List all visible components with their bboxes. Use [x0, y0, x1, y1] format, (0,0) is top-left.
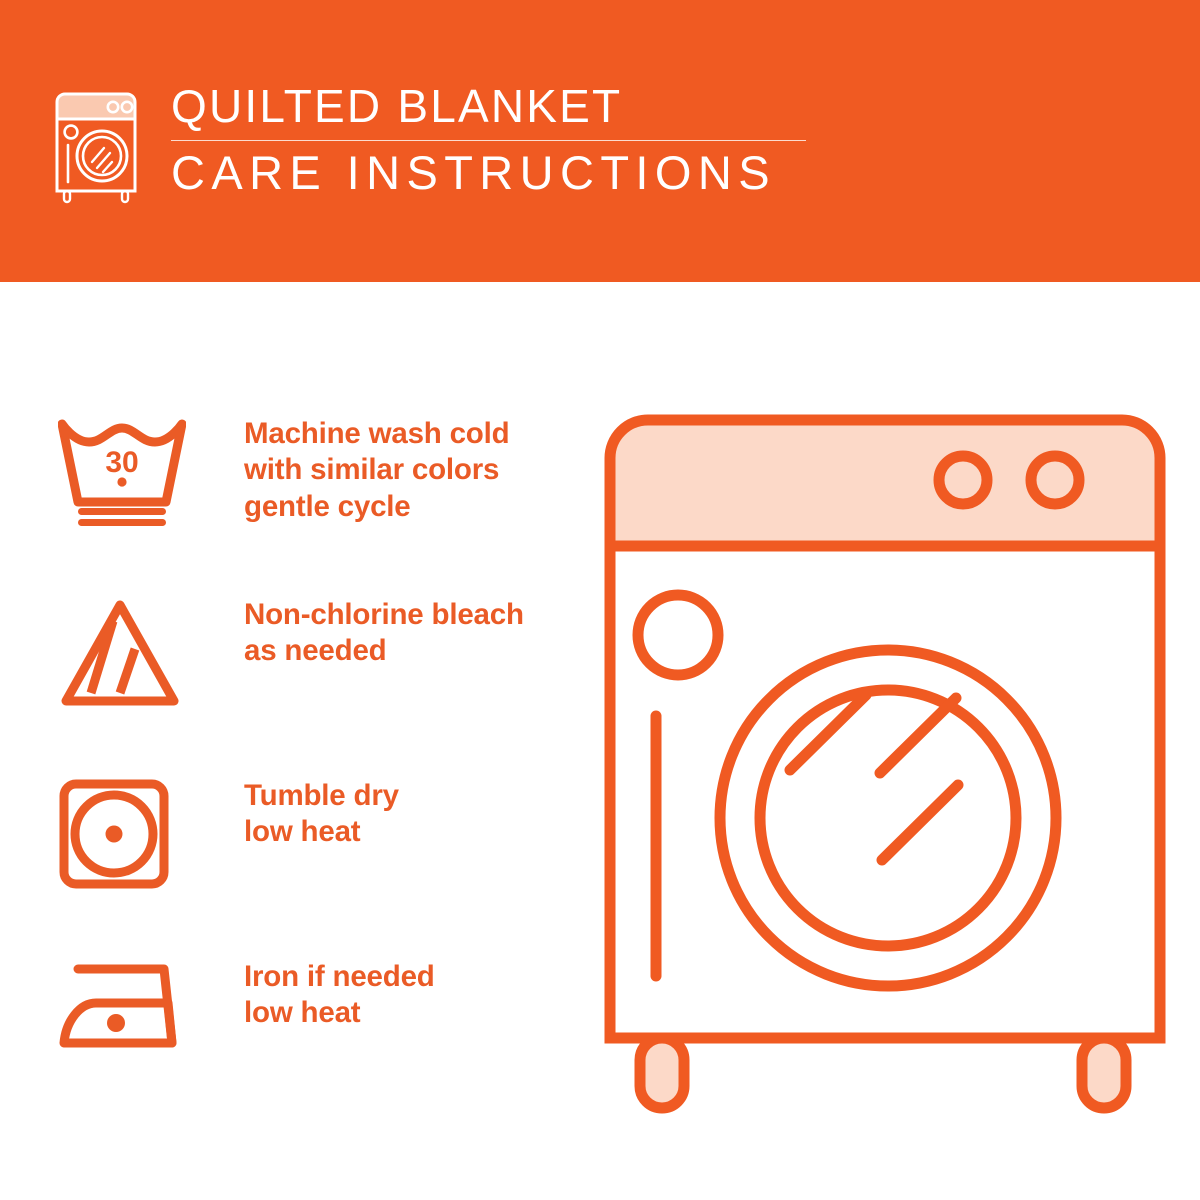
title-divider: [171, 140, 806, 141]
care-text-line: low heat: [244, 814, 399, 850]
symbol-slot: [58, 770, 198, 890]
page-subtitle: CARE INSTRUCTIONS: [171, 148, 806, 198]
washing-machine-icon: [55, 86, 147, 208]
care-text-line: Iron if needed: [244, 959, 435, 995]
machine-body: [610, 546, 1160, 1038]
drum-swirl-lines: [790, 695, 958, 860]
care-row-iron: Iron if needed low heat: [58, 951, 578, 1132]
detergent-dial: [638, 595, 718, 675]
drum-inner-ring: [760, 690, 1016, 946]
care-text-line: Tumble dry: [244, 778, 399, 814]
care-instructions-page: QUILTED BLANKET CARE INSTRUCTIONS 30: [0, 0, 1200, 1200]
care-text-line: Non-chlorine bleach: [244, 597, 524, 633]
title-block: QUILTED BLANKET CARE INSTRUCTIONS: [171, 82, 806, 198]
symbol-slot: [58, 951, 198, 1059]
care-text-line: with similar colors: [244, 452, 509, 488]
low-heat-dot: [107, 1014, 125, 1032]
care-row-tumble-dry: Tumble dry low heat: [58, 770, 578, 951]
symbol-slot: [58, 589, 198, 709]
header-banner: QUILTED BLANKET CARE INSTRUCTIONS: [0, 0, 1200, 282]
leg-right: [1082, 1038, 1126, 1108]
low-heat-dot: [106, 826, 123, 843]
care-text-line: Machine wash cold: [244, 416, 509, 452]
front-load-washing-machine-illustration: [600, 398, 1170, 1120]
page-title: QUILTED BLANKET: [171, 82, 806, 131]
care-instruction-list: 30 Machine wash cold with similar colors…: [58, 408, 578, 1132]
care-text-bleach: Non-chlorine bleach as needed: [244, 589, 524, 670]
care-text-line: low heat: [244, 995, 435, 1031]
care-text-tumble-dry: Tumble dry low heat: [244, 770, 399, 851]
care-text-machine-wash: Machine wash cold with similar colors ge…: [244, 408, 509, 525]
iron-low-heat-icon: [58, 959, 188, 1059]
care-text-line: as needed: [244, 633, 524, 669]
care-row-bleach: Non-chlorine bleach as needed: [58, 589, 578, 770]
wash-tub-30-gentle-icon: 30: [58, 416, 186, 532]
symbol-slot: 30: [58, 408, 198, 532]
wash-temperature-label: 30: [105, 446, 138, 479]
care-text-line: gentle cycle: [244, 489, 509, 525]
care-row-machine-wash: 30 Machine wash cold with similar colors…: [58, 408, 578, 589]
leg-left: [640, 1038, 684, 1108]
drum-outer-ring: [720, 650, 1056, 986]
triangle-non-chlorine-bleach-icon: [58, 597, 182, 709]
tumble-dry-low-heat-icon: [58, 778, 170, 890]
gentle-dot: [117, 477, 126, 486]
care-text-iron: Iron if needed low heat: [244, 951, 435, 1032]
header-content: QUILTED BLANKET CARE INSTRUCTIONS: [55, 82, 806, 208]
